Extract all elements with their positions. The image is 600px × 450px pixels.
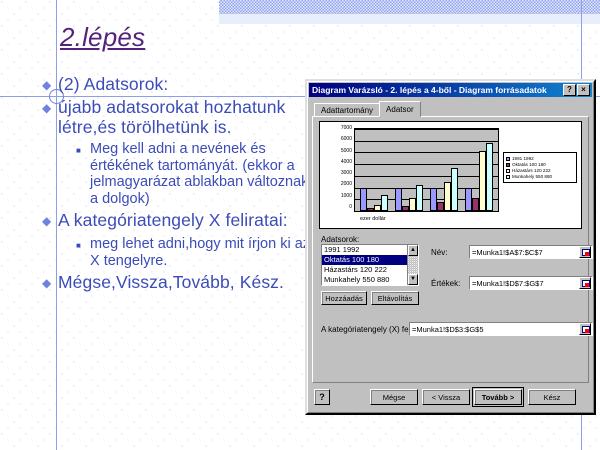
bar: [402, 206, 409, 211]
bar: [444, 182, 451, 211]
listbox-scrollbar[interactable]: ▲ ▼: [407, 245, 418, 285]
y-tick: 2000: [341, 182, 352, 187]
dialog-titlebar[interactable]: Diagram Varázsló - 2. lépés a 4-ből - Di…: [309, 83, 592, 97]
legend-label: Munkahely 550 880: [512, 174, 552, 179]
chart-plot-wrapper: 7000 6000 5000 4000 3000 2000 1000 0 eze…: [326, 126, 577, 226]
bar: [409, 198, 416, 211]
bullet-item[interactable]: ◆ újabb adatsorokat hozhatunk létre,és t…: [42, 97, 312, 137]
help-titlebar-icon[interactable]: ?: [563, 84, 576, 96]
decorative-top-band: [219, 0, 600, 14]
bar: [381, 195, 388, 211]
bar: [416, 185, 423, 211]
bullet-item[interactable]: ◆ (2) Adatsorok:: [42, 74, 312, 96]
bullet-item[interactable]: ◆ Mégse,Vissza,Tovább, Kész.: [42, 272, 312, 294]
bullet-item[interactable]: ■ Meg kell adni a nevének és értékének t…: [76, 141, 312, 207]
slide-body-text[interactable]: ◆ (2) Adatsorok: ◆ újabb adatsorokat hoz…: [42, 74, 312, 295]
bar: [451, 168, 458, 211]
bar: [367, 208, 374, 212]
y-tick: 3000: [341, 171, 352, 176]
legend-item: 1991 1992: [506, 156, 574, 161]
bar-group: [360, 129, 388, 211]
series-listbox[interactable]: 1991 1992Oktatás 100 180Házastárs 120 22…: [321, 244, 419, 286]
legend-swatch: [506, 175, 510, 179]
tab-adattartomany[interactable]: Adattartomány: [314, 103, 380, 117]
diamond-bullet-icon: ◆: [42, 210, 58, 232]
bar-group: [465, 129, 493, 211]
bullet-text: meg lehet adni,hogy mit írjon ki az X te…: [90, 236, 312, 269]
tab-adatsor[interactable]: Adatsor: [379, 101, 421, 117]
range-picker-icon[interactable]: [579, 246, 591, 258]
category-axis-field[interactable]: [409, 322, 593, 336]
next-button[interactable]: Tovább >: [474, 389, 522, 405]
series-list-item[interactable]: Oktatás 100 180: [322, 255, 407, 265]
bar: [465, 188, 472, 211]
square-bullet-icon: ■: [76, 236, 90, 255]
category-axis-input[interactable]: [410, 325, 579, 334]
y-tick: 0: [349, 205, 352, 210]
bullet-text: Meg kell adni a nevének és értékének tar…: [90, 141, 312, 207]
chart-x-axis-label: ezer dollár: [360, 216, 386, 222]
chart-legend: 1991 1992Oktatás 100 180Házastárs 120 22…: [503, 152, 577, 183]
legend-label: Oktatás 100 180: [512, 162, 546, 167]
series-list-item[interactable]: Munkahely 550 880: [322, 275, 407, 285]
chart-bars: [357, 129, 496, 211]
diamond-bullet-icon: ◆: [42, 74, 58, 96]
legend-swatch: [506, 157, 510, 161]
legend-swatch: [506, 163, 510, 167]
y-tick: 4000: [341, 160, 352, 165]
bar: [374, 205, 381, 211]
bullet-text: (2) Adatsorok:: [58, 74, 168, 94]
tab-panel-adatsor: 7000 6000 5000 4000 3000 2000 1000 0 eze…: [312, 116, 589, 383]
remove-series-button[interactable]: Eltávolítás: [371, 291, 419, 305]
bar: [360, 188, 367, 211]
gridline: [355, 211, 498, 212]
series-list-item[interactable]: 1991 1992: [322, 245, 407, 255]
diamond-bullet-icon: ◆: [42, 97, 58, 119]
legend-item: Oktatás 100 180: [506, 162, 574, 167]
scroll-down-icon[interactable]: ▼: [408, 274, 418, 285]
bullet-text: Mégse,Vissza,Tovább, Kész.: [58, 272, 284, 292]
add-series-button[interactable]: Hozzáadás: [321, 291, 367, 305]
dialog-title: Diagram Varázsló - 2. lépés a 4-ből - Di…: [312, 85, 562, 95]
page-title[interactable]: 2.lépés: [60, 22, 145, 53]
scroll-up-icon[interactable]: ▲: [408, 245, 418, 256]
values-field[interactable]: [469, 276, 593, 290]
chart-y-axis: 7000 6000 5000 4000 3000 2000 1000 0: [326, 128, 352, 212]
legend-item: Házastárs 120 222: [506, 168, 574, 173]
scroll-track[interactable]: [408, 256, 418, 274]
bar: [472, 198, 479, 211]
legend-label: 1991 1992: [512, 156, 534, 161]
y-tick: 6000: [341, 137, 352, 142]
diamond-bullet-icon: ◆: [42, 272, 58, 294]
legend-label: Házastárs 120 222: [512, 168, 551, 173]
bar-group: [395, 129, 423, 211]
bar: [479, 151, 486, 211]
chart-wizard-dialog[interactable]: Diagram Varázsló - 2. lépés a 4-ből - Di…: [305, 79, 596, 415]
square-bullet-icon: ■: [76, 141, 90, 160]
name-field-label: Név:: [431, 248, 447, 257]
bar-group: [430, 129, 458, 211]
bullet-item[interactable]: ■ meg lehet adni,hogy mit írjon ki az X …: [76, 236, 312, 269]
series-list-label: Adatsorok:: [321, 235, 359, 244]
values-field-label: Értékek:: [431, 279, 460, 288]
range-picker-icon[interactable]: [579, 277, 591, 289]
y-tick: 1000: [341, 194, 352, 199]
series-list-items[interactable]: 1991 1992Oktatás 100 180Házastárs 120 22…: [322, 245, 407, 285]
y-tick: 5000: [341, 149, 352, 154]
bar: [395, 188, 402, 211]
decorative-top-band-secondary: [219, 14, 600, 24]
back-button[interactable]: < Vissza: [422, 389, 470, 405]
range-picker-icon[interactable]: [579, 323, 591, 335]
values-input[interactable]: [470, 279, 579, 288]
bar: [437, 202, 444, 211]
finish-button[interactable]: Kész: [528, 389, 576, 405]
tab-strip[interactable]: Adattartomány Adatsor: [314, 101, 420, 117]
chart-plot-area: [354, 128, 499, 212]
bullet-text: újabb adatsorokat hozhatunk létre,és tör…: [58, 97, 312, 137]
bullet-text: A kategóriatengely X feliratai:: [58, 210, 288, 230]
help-button[interactable]: ?: [314, 389, 330, 405]
bar: [430, 188, 437, 211]
legend-item: Munkahely 550 880: [506, 174, 574, 179]
bullet-item[interactable]: ◆ A kategóriatengely X feliratai:: [42, 210, 312, 232]
legend-swatch: [506, 169, 510, 173]
name-field[interactable]: [469, 245, 593, 259]
y-tick: 7000: [341, 126, 352, 131]
dialog-button-bar: ? Mégse < Vissza Tovább > Kész: [312, 389, 589, 407]
name-input[interactable]: [470, 248, 579, 257]
close-icon[interactable]: ×: [577, 84, 590, 96]
chart-preview[interactable]: 7000 6000 5000 4000 3000 2000 1000 0 eze…: [319, 121, 582, 229]
cancel-button[interactable]: Mégse: [370, 389, 418, 405]
bar: [486, 143, 493, 211]
series-list-item[interactable]: Házastárs 120 222: [322, 265, 407, 275]
